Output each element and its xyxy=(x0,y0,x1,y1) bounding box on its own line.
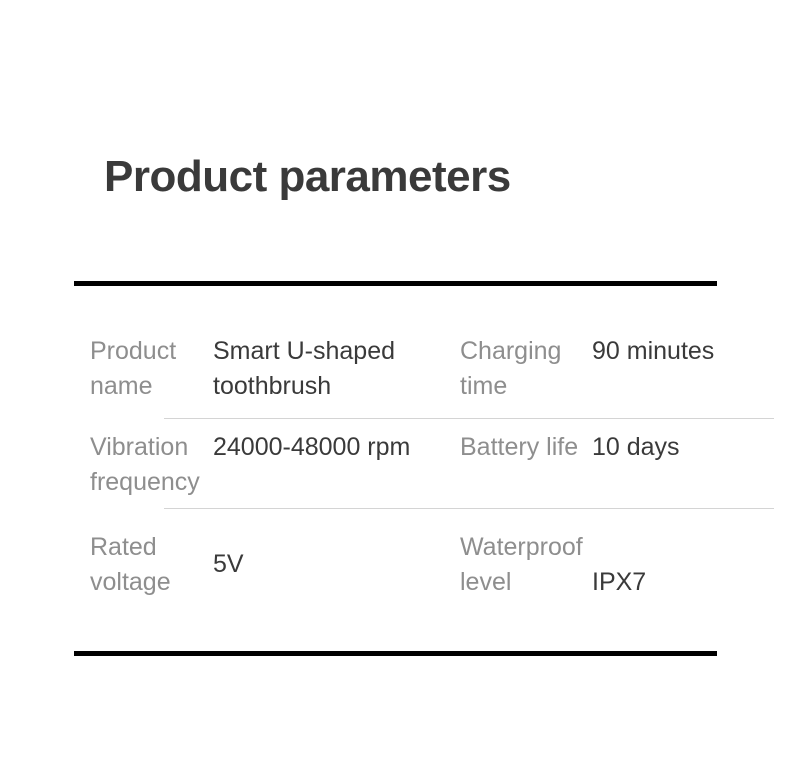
spec-value: 90 minutes xyxy=(592,334,717,369)
spec-cell-vibration-frequency: Vibration frequency 24000-48000 rpm xyxy=(74,430,446,514)
row-divider xyxy=(164,508,774,509)
spec-value: 10 days xyxy=(592,430,717,465)
spec-value: 5V xyxy=(213,547,453,582)
table-row: Product name Smart U-shaped toothbrush C… xyxy=(74,334,717,418)
spec-label: Waterproof level xyxy=(460,530,592,600)
spec-cell-battery-life: Battery life 10 days xyxy=(446,430,717,514)
spec-cell-charging-time: Charging time 90 minutes xyxy=(446,334,717,418)
spec-label: Charging time xyxy=(460,334,592,404)
product-parameters-page: Product parameters Product name Smart U-… xyxy=(0,0,790,761)
spec-label: Vibration frequency xyxy=(90,430,213,500)
spec-value: IPX7 xyxy=(592,565,717,600)
spec-value: 24000-48000 rpm xyxy=(213,430,453,465)
page-title: Product parameters xyxy=(104,152,511,203)
spec-label: Battery life xyxy=(460,430,592,465)
spec-table: Product name Smart U-shaped toothbrush C… xyxy=(74,281,717,651)
table-bottom-rule xyxy=(74,651,717,656)
spec-cell-product-name: Product name Smart U-shaped toothbrush xyxy=(74,334,446,418)
spec-value: Smart U-shaped toothbrush xyxy=(213,334,453,404)
spec-label: Product name xyxy=(90,334,213,404)
table-row: Vibration frequency 24000-48000 rpm Batt… xyxy=(74,430,717,514)
spec-label: Rated voltage xyxy=(90,530,213,600)
row-divider xyxy=(164,418,774,419)
spec-cell-waterproof-level: Waterproof level IPX7 xyxy=(446,530,717,622)
table-row: Rated voltage 5V Waterproof level IPX7 xyxy=(74,530,717,622)
spec-cell-rated-voltage: Rated voltage 5V xyxy=(74,530,446,622)
